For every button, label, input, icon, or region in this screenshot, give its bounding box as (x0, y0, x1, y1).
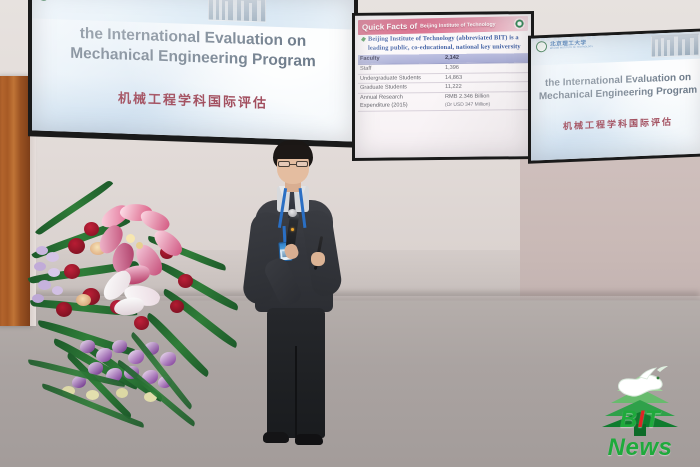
bit-logo-en-right: BEIJING INSTITUTE OF TECHNOLOGY (550, 46, 593, 50)
campus-building-image-left (208, 0, 266, 23)
photograph: 北京理工大学 BEIJING INSTITUTE OF TECHNOLOGY 学… (0, 0, 700, 467)
dove-icon (602, 364, 678, 410)
presenter-shoe-right (295, 434, 323, 445)
bit-seal-icon-right (536, 41, 547, 52)
right-projection-screen[interactable]: 北京理工大学 BEIJING INSTITUTE OF TECHNOLOGY 学… (531, 31, 700, 160)
right-slide-title: the International Evaluation on Mechanic… (538, 72, 698, 104)
floral-arrangement (28, 190, 278, 440)
quick-facts-header: Quick Facts of Beijing Institute of Tech… (358, 16, 528, 35)
quick-facts-header-main: Quick Facts of (362, 22, 417, 32)
bit-news-watermark: BIT News (588, 362, 692, 462)
bit-news-label: BIT News (588, 406, 692, 462)
quick-facts-lead-text: Beijing Institute of Technology (abbrevi… (368, 34, 526, 53)
table-row: Expenditure (2015) (Or USD 347 Million) (358, 100, 528, 111)
quick-facts-lead: Beijing Institute of Technology (abbrevi… (358, 34, 528, 53)
leaf-bullet-icon (361, 37, 366, 42)
left-projection-screen[interactable]: 北京理工大学 BEIJING INSTITUTE OF TECHNOLOGY 学… (32, 0, 354, 142)
quick-facts-header-sub: Beijing Institute of Technology (420, 21, 495, 29)
campus-building-image-right (651, 34, 699, 58)
row-value-research-sub: (Or USD 347 Million) (443, 100, 528, 110)
presenter-hand-right (311, 252, 325, 266)
left-slide: 北京理工大学 BEIJING INSTITUTE OF TECHNOLOGY 学… (32, 0, 354, 142)
center-slide: Quick Facts of Beijing Institute of Tech… (355, 14, 531, 158)
bit-news-i: I (638, 406, 645, 433)
trouser-seam (295, 346, 297, 438)
left-slide-title: the International Evaluation on Mechanic… (45, 23, 341, 73)
presenter-fringe (274, 145, 312, 159)
row-label-research-2: Expenditure (2015) (358, 101, 443, 111)
right-slide: 北京理工大学 BEIJING INSTITUTE OF TECHNOLOGY 学… (531, 31, 700, 160)
microphone-led-icon (291, 228, 294, 231)
bit-seal-icon-center (514, 18, 525, 29)
bit-news-b: B (620, 406, 638, 433)
quick-facts-table: Faculty 2,142 Staff 1,396 Undergraduate … (358, 53, 528, 111)
bit-logo-en: BEIJING INSTITUTE OF TECHNOLOGY (52, 0, 95, 1)
glasses-icon (278, 161, 308, 167)
right-slide-swoosh (531, 105, 700, 161)
center-projection-screen[interactable]: Quick Facts of Beijing Institute of Tech… (355, 14, 531, 158)
